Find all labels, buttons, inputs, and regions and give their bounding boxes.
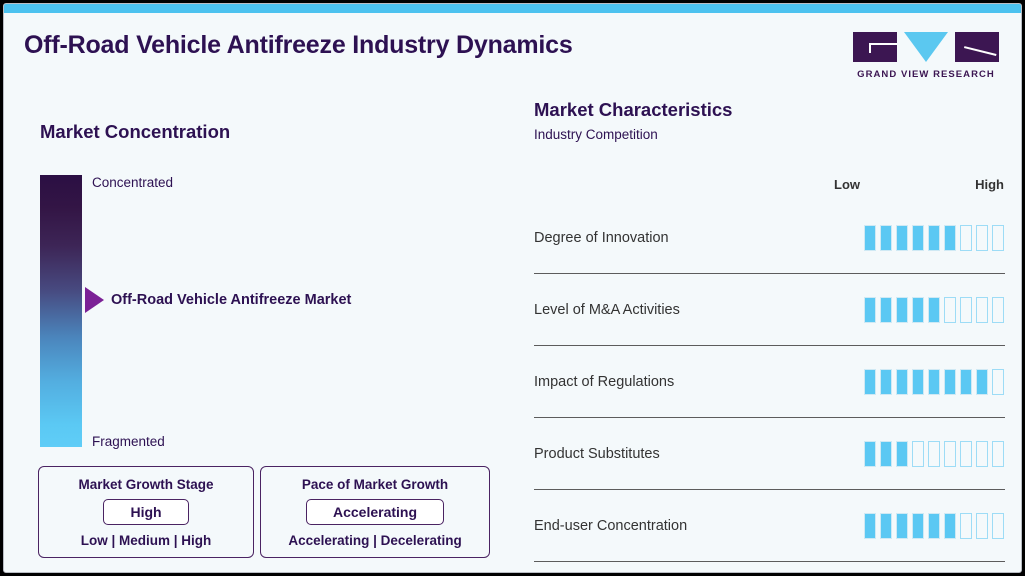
meter-scale-header: Low High (834, 177, 1004, 192)
meter-tick-empty (944, 297, 956, 323)
page-title: Off-Road Vehicle Antifreeze Industry Dyn… (24, 31, 573, 60)
meter-tick-filled (896, 369, 908, 395)
meter-tick-filled (960, 369, 972, 395)
characteristic-meter (864, 225, 1005, 251)
meter-tick-filled (880, 225, 892, 251)
gvr-triangle-icon (904, 32, 948, 62)
scale-high-label: High (975, 177, 1004, 192)
meter-tick-filled (944, 369, 956, 395)
meter-tick-filled (944, 225, 956, 251)
characteristic-meter (864, 369, 1005, 395)
characteristic-row: End-user Concentration (534, 490, 1005, 562)
market-growth-stage-scale: Low | Medium | High (47, 533, 245, 548)
meter-tick-filled (896, 225, 908, 251)
characteristic-label: End-user Concentration (534, 518, 687, 534)
market-growth-stage-title: Market Growth Stage (47, 477, 245, 492)
market-growth-stage-value: High (103, 499, 188, 525)
meter-tick-filled (880, 369, 892, 395)
infographic-frame: Off-Road Vehicle Antifreeze Industry Dyn… (3, 3, 1022, 573)
market-characteristics-heading: Market Characteristics Industry Competit… (534, 99, 732, 142)
meter-tick-empty (976, 441, 988, 467)
growth-boxes: Market Growth Stage High Low | Medium | … (38, 466, 490, 558)
meter-tick-empty (960, 513, 972, 539)
characteristic-row: Product Substitutes (534, 418, 1005, 490)
brand-logo: GRAND VIEW RESEARCH (853, 32, 999, 80)
characteristic-label: Impact of Regulations (534, 374, 674, 390)
market-position-marker: Off-Road Vehicle Antifreeze Market (85, 287, 351, 313)
scale-low-label: Low (834, 177, 860, 192)
meter-tick-filled (928, 369, 940, 395)
meter-tick-filled (944, 513, 956, 539)
gvr-right-bracket-icon (955, 32, 999, 62)
meter-tick-filled (928, 297, 940, 323)
meter-tick-filled (912, 513, 924, 539)
pace-of-market-growth-box: Pace of Market Growth Accelerating Accel… (260, 466, 490, 558)
meter-tick-filled (864, 369, 876, 395)
meter-tick-filled (912, 369, 924, 395)
meter-tick-empty (960, 225, 972, 251)
meter-tick-filled (864, 441, 876, 467)
meter-tick-filled (976, 369, 988, 395)
meter-tick-filled (896, 513, 908, 539)
market-growth-stage-box: Market Growth Stage High Low | Medium | … (38, 466, 254, 558)
characteristic-meter (864, 513, 1005, 539)
market-characteristics-title: Market Characteristics (534, 99, 732, 121)
meter-tick-filled (912, 225, 924, 251)
meter-tick-empty (992, 513, 1004, 539)
logo-marks (853, 32, 999, 64)
characteristics-rows: Degree of InnovationLevel of M&A Activit… (534, 202, 1005, 562)
meter-tick-empty (992, 441, 1004, 467)
market-concentration-title: Market Concentration (40, 121, 230, 143)
meter-tick-empty (976, 513, 988, 539)
meter-tick-filled (928, 513, 940, 539)
meter-tick-empty (960, 441, 972, 467)
characteristic-row: Impact of Regulations (534, 346, 1005, 418)
meter-tick-filled (864, 513, 876, 539)
meter-tick-empty (960, 297, 972, 323)
meter-tick-empty (912, 441, 924, 467)
top-accent-bar (4, 4, 1021, 13)
market-position-label: Off-Road Vehicle Antifreeze Market (111, 292, 351, 308)
meter-tick-empty (992, 369, 1004, 395)
characteristic-label: Product Substitutes (534, 446, 660, 462)
market-characteristics-panel: Market Characteristics Industry Competit… (514, 99, 1022, 569)
market-concentration-panel: Market Concentration Concentrated Fragme… (4, 99, 514, 569)
meter-tick-empty (976, 297, 988, 323)
market-characteristics-subtitle: Industry Competition (534, 127, 732, 142)
meter-tick-empty (992, 297, 1004, 323)
characteristic-label: Degree of Innovation (534, 230, 669, 246)
meter-tick-empty (992, 225, 1004, 251)
meter-tick-filled (912, 297, 924, 323)
meter-tick-empty (928, 441, 940, 467)
characteristic-row: Level of M&A Activities (534, 274, 1005, 346)
meter-tick-filled (880, 441, 892, 467)
meter-tick-filled (928, 225, 940, 251)
pace-of-market-growth-scale: Accelerating | Decelerating (269, 533, 481, 548)
meter-tick-filled (896, 441, 908, 467)
concentration-gradient-bar (40, 175, 82, 447)
pace-of-market-growth-title: Pace of Market Growth (269, 477, 481, 492)
meter-tick-filled (864, 297, 876, 323)
characteristic-meter (864, 441, 1005, 467)
pace-of-market-growth-value: Accelerating (306, 499, 444, 525)
meter-tick-empty (944, 441, 956, 467)
concentration-top-label: Concentrated (92, 175, 173, 190)
meter-tick-filled (896, 297, 908, 323)
meter-tick-empty (976, 225, 988, 251)
meter-tick-filled (880, 513, 892, 539)
meter-tick-filled (880, 297, 892, 323)
characteristic-meter (864, 297, 1005, 323)
concentration-scale: Concentrated Fragmented Off-Road Vehicle… (40, 175, 500, 447)
triangle-right-icon (85, 287, 104, 313)
logo-wordmark: GRAND VIEW RESEARCH (853, 69, 999, 80)
characteristic-label: Level of M&A Activities (534, 302, 680, 318)
header: Off-Road Vehicle Antifreeze Industry Dyn… (4, 13, 1021, 89)
concentration-bottom-label: Fragmented (92, 434, 165, 449)
meter-tick-filled (864, 225, 876, 251)
characteristic-row: Degree of Innovation (534, 202, 1005, 274)
gvr-left-bracket-icon (853, 32, 897, 62)
